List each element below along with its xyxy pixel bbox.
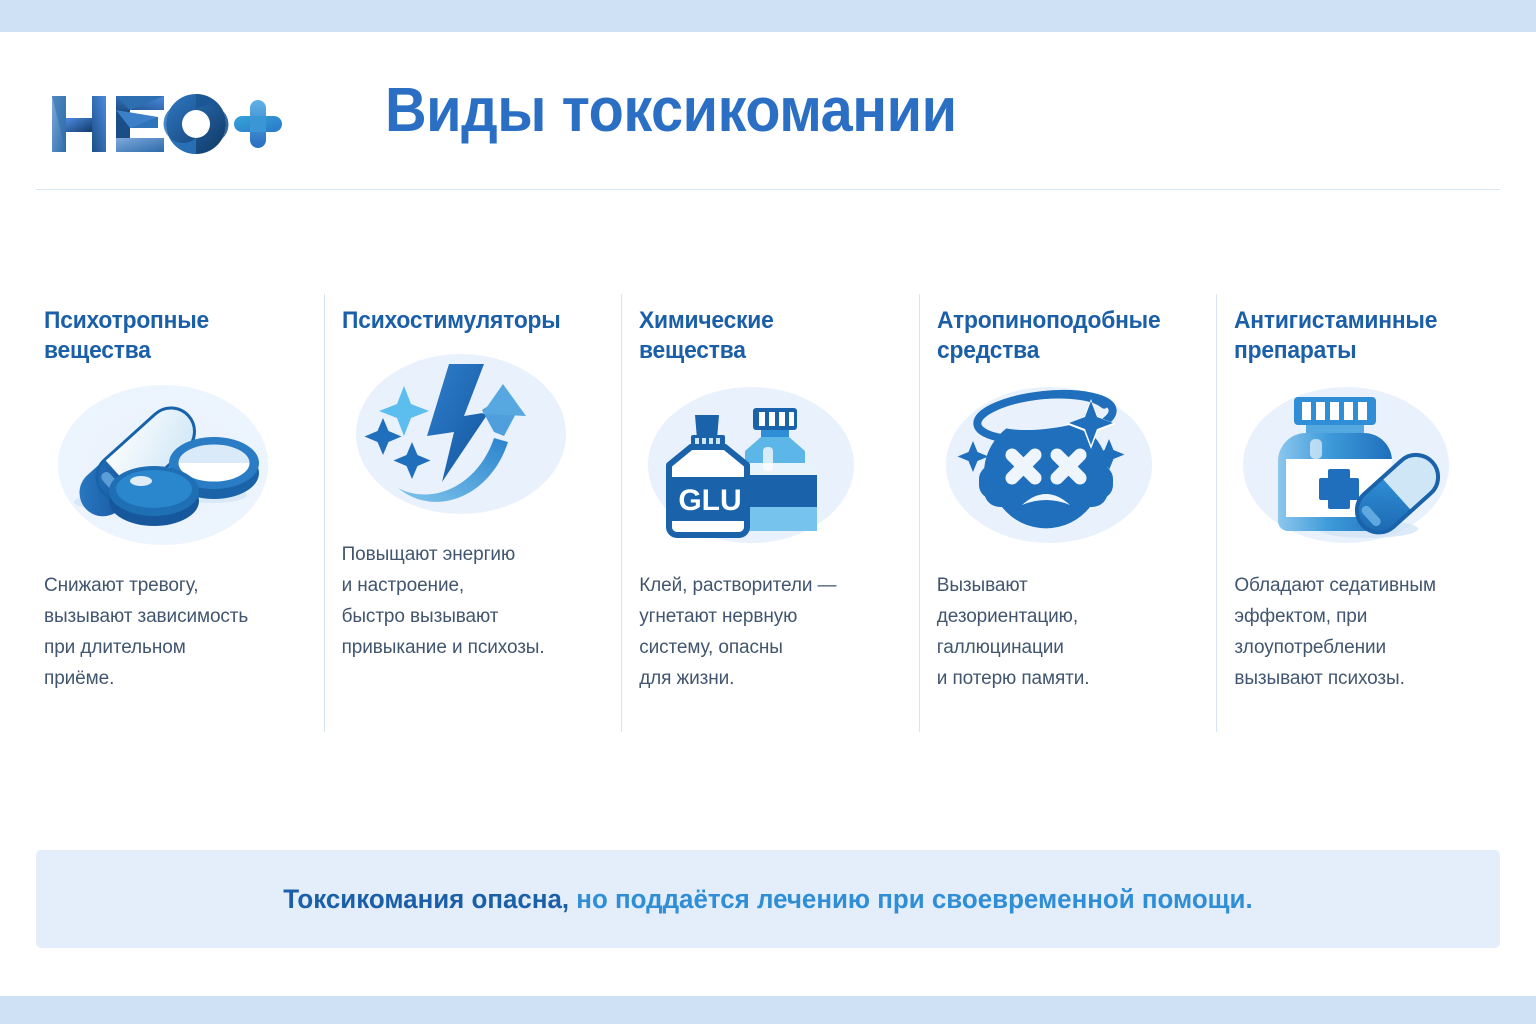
column-chemical: Химические вещества (621, 254, 919, 754)
neo-plus-logo (48, 90, 283, 158)
header-divider (36, 189, 1500, 190)
pill-bottle-capsule-icon (1234, 377, 1496, 557)
glue-label: GLU (679, 484, 742, 517)
column-title: Психостимуляторы (342, 254, 591, 336)
header: Виды токсикомании (0, 32, 1536, 187)
column-psychostimulants: Психостимуляторы (324, 254, 622, 754)
glue-bottles-icon: GLU (639, 377, 901, 557)
column-title: Антигистаминные препараты (1234, 254, 1483, 367)
banner-rest-text: но поддаётся лечению при своевременной п… (569, 884, 1253, 914)
dizzy-face-icon (937, 377, 1199, 557)
page-title: Виды токсикомании (385, 80, 957, 142)
footer-banner: Токсикомания опасна, но поддаётся лечени… (36, 850, 1500, 948)
bottom-color-band (0, 996, 1536, 1024)
column-description: Повыщают энергию и настроение, быстро вы… (342, 540, 604, 664)
category-columns: Психотропные вещества (0, 254, 1536, 754)
lightning-bolt-icon (342, 346, 604, 526)
footer-banner-text: Токсикомания опасна, но поддаётся лечени… (283, 884, 1252, 915)
column-psychotropic: Психотропные вещества (0, 254, 324, 754)
column-atropine: Атропиноподобные средства (919, 254, 1217, 754)
column-title: Психотропные вещества (44, 254, 293, 367)
pills-icon (44, 377, 306, 557)
column-description: Снижают тревогу, вызывают зависимость пр… (44, 571, 306, 695)
banner-strong-text: Токсикомания опасна, (283, 884, 569, 914)
top-color-band (0, 0, 1536, 32)
column-description: Обладают седативным эффектом, при злоупо… (1234, 571, 1496, 695)
column-title: Атропиноподобные средства (937, 254, 1186, 367)
column-description: Клей, растворители — угнетают нервную си… (639, 571, 901, 695)
column-description: Вызывают дезориентацию, галлюцинации и п… (937, 571, 1199, 695)
infographic-canvas: Виды токсикомании Психотропные вещества (0, 32, 1536, 996)
column-title: Химические вещества (639, 254, 888, 367)
column-antihistamine: Антигистаминные препараты (1216, 254, 1536, 754)
